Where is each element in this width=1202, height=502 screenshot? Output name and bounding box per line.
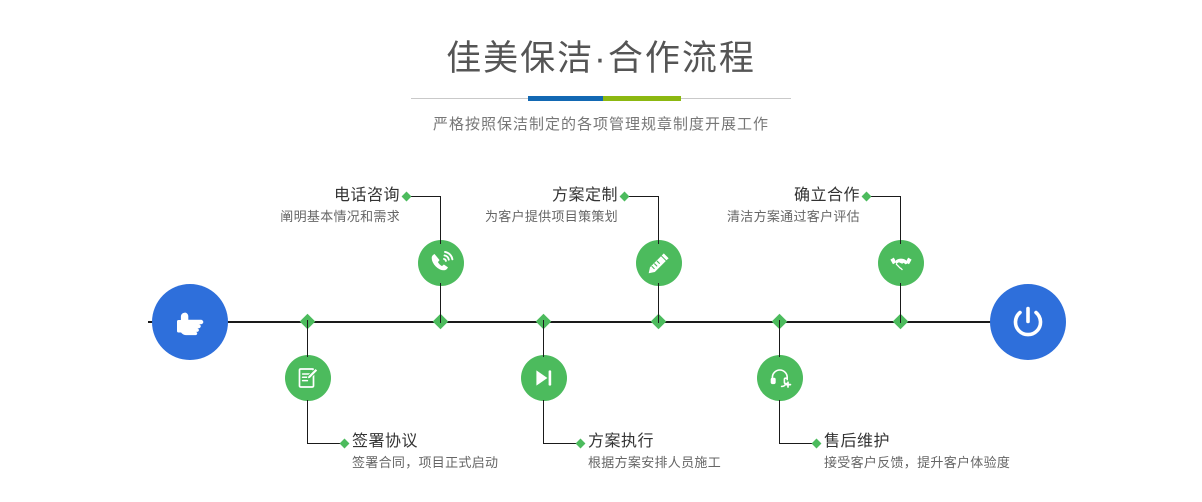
step-desc-5: 清洁方案通过客户评估 — [672, 207, 860, 227]
step-desc-1: 阐明基本情况和需求 — [200, 207, 400, 227]
headset-plus-icon — [767, 365, 793, 391]
step-title-2: 签署协议 — [352, 431, 582, 453]
step-node-3[interactable] — [636, 240, 682, 286]
connector-horizontal-5 — [867, 196, 901, 197]
step-title-4: 方案执行 — [588, 431, 808, 453]
document-pen-icon — [295, 365, 321, 391]
connector-vertical-6 — [779, 400, 780, 443]
timeline-axis — [148, 321, 1054, 323]
step-title-5: 确立合作 — [672, 185, 860, 207]
step-title-3: 方案定制 — [430, 185, 618, 207]
step-node-4[interactable] — [521, 355, 567, 401]
pencil-ruler-icon — [646, 250, 672, 276]
phone-icon — [428, 250, 454, 276]
step-desc-6: 接受客户反馈，提升客户体验度 — [824, 453, 1084, 473]
leader-dot-5 — [862, 192, 872, 202]
connector-vertical-2a — [307, 320, 308, 357]
step-label-4: 方案执行 根据方案安排人员施工 — [588, 431, 808, 473]
step-node-6[interactable] — [757, 355, 803, 401]
connector-vertical-3b — [658, 283, 659, 323]
step-label-6: 售后维护 接受客户反馈，提升客户体验度 — [824, 431, 1084, 473]
connector-vertical-5 — [900, 196, 901, 244]
step-desc-4: 根据方案安排人员施工 — [588, 453, 808, 473]
process-timeline: 电话咨询 阐明基本情况和需求 签署协议 — [0, 0, 1202, 502]
step-label-3: 方案定制 为客户提供项目策策划 — [430, 185, 618, 227]
connector-vertical-5b — [900, 283, 901, 323]
timeline-end-marker — [990, 284, 1066, 360]
connector-vertical-4 — [543, 400, 544, 443]
step-label-5: 确立合作 清洁方案通过客户评估 — [672, 185, 860, 227]
leader-dot-2 — [340, 439, 350, 449]
connector-vertical-3 — [658, 196, 659, 244]
step-title-6: 售后维护 — [824, 431, 1084, 453]
step-node-1[interactable] — [418, 240, 464, 286]
power-icon — [1007, 301, 1049, 343]
pointing-hand-icon — [170, 302, 210, 342]
leader-dot-6 — [812, 439, 822, 449]
connector-horizontal-3 — [625, 196, 659, 197]
step-node-5[interactable] — [878, 240, 924, 286]
step-desc-3: 为客户提供项目策策划 — [430, 207, 618, 227]
step-label-2: 签署协议 签署合同，项目正式启动 — [352, 431, 582, 473]
leader-dot-1 — [402, 192, 412, 202]
step-node-2[interactable] — [285, 355, 331, 401]
connector-vertical-6a — [779, 320, 780, 357]
cooperation-flow-infographic: 佳美保洁·合作流程 严格按照保洁制定的各项管理规章制度开展工作 — [0, 0, 1202, 502]
leader-dot-3 — [620, 192, 630, 202]
handshake-icon — [888, 250, 914, 276]
step-label-1: 电话咨询 阐明基本情况和需求 — [200, 185, 400, 227]
step-title-1: 电话咨询 — [200, 185, 400, 207]
step-desc-2: 签署合同，项目正式启动 — [352, 453, 582, 473]
connector-vertical-4a — [543, 320, 544, 357]
play-execute-icon — [531, 365, 557, 391]
connector-vertical-1b — [440, 283, 441, 323]
connector-vertical-2 — [307, 400, 308, 443]
timeline-start-marker — [152, 284, 228, 360]
